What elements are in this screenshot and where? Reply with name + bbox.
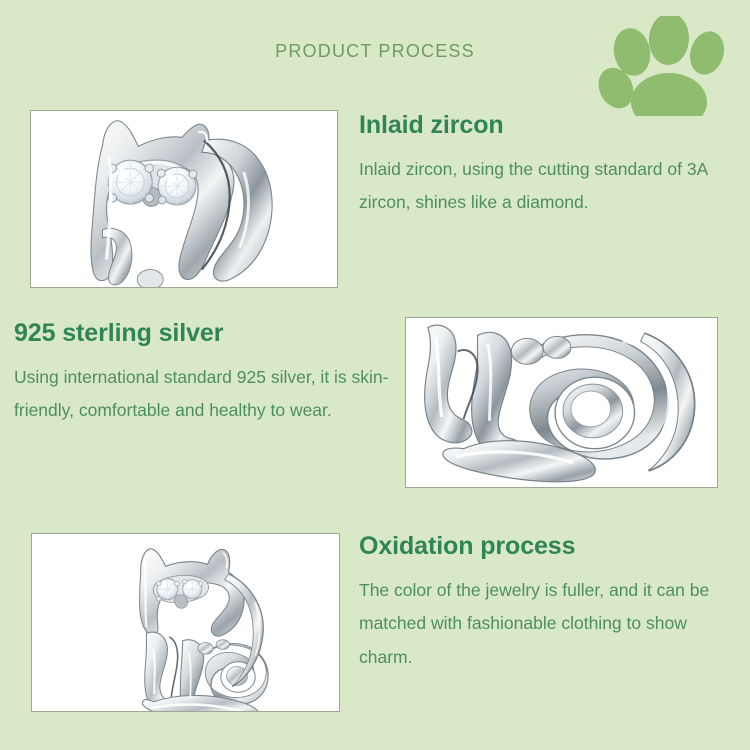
section-body-inlaid-zircon: Inlaid zircon, using the cutting standar… (359, 153, 735, 220)
section-body-oxidation: The color of the jewelry is fuller, and … (359, 574, 737, 675)
section-heading-oxidation: Oxidation process (359, 533, 737, 561)
product-photo-oxidation (32, 534, 339, 711)
section-inlaid-zircon: Inlaid zircon Inlaid zircon, using the c… (359, 112, 735, 220)
product-image-card-oxidation (31, 533, 340, 712)
paw-print-icon (597, 16, 727, 116)
section-oxidation: Oxidation process The color of the jewel… (359, 533, 737, 674)
section-heading-sterling-silver: 925 sterling silver (14, 320, 406, 348)
section-body-sterling-silver: Using international standard 925 silver,… (14, 361, 406, 428)
section-sterling-silver: 925 sterling silver Using international … (14, 320, 406, 428)
product-image-card-sterling-silver (405, 317, 718, 488)
product-photo-inlaid-zircon (31, 111, 337, 287)
product-photo-sterling-silver (406, 318, 717, 487)
product-image-card-inlaid-zircon (30, 110, 338, 288)
section-heading-inlaid-zircon: Inlaid zircon (359, 112, 735, 140)
